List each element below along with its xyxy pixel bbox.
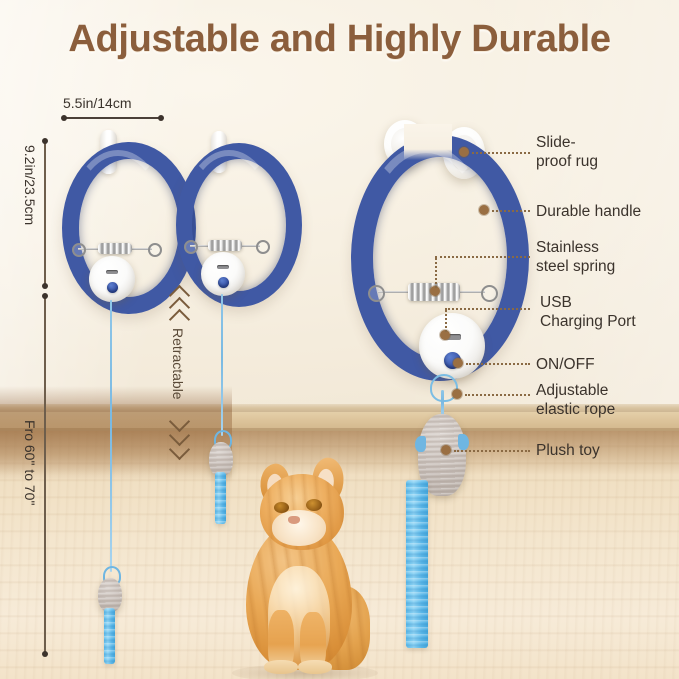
leader-slide-proof-rug [472,152,530,154]
callout-on-off-line1: ON/OFF [536,355,595,374]
leader-adjustable-elastic-rope [465,394,530,396]
main-spring-eye-left [368,285,385,302]
retractable-label: Retractable [170,328,186,400]
callout-plush-toy-line1: Plush toy [536,441,600,460]
plush-toy-ear-left [415,436,426,452]
power-button[interactable] [107,282,118,293]
range-dimension-endpoint-top [42,293,48,299]
leader-usb-charging-port-vertical [445,310,447,332]
callout-slide-proof-rug: Slide- proof rug [536,133,598,171]
height-dimension-endpoint-top [42,138,48,144]
device-left-plush-toy [98,578,122,612]
device-left-elastic-rope [110,300,112,572]
device-left-spring-coil [98,243,132,254]
callout-durable-handle-line1: Durable handle [536,202,641,221]
anchor-durable-handle [479,205,489,215]
callout-on-off: ON/OFF [536,355,595,374]
anchor-adjustable-elastic-rope [452,389,462,399]
leader-stainless-steel-spring-vertical [435,258,437,288]
device-left-spring-eye-right [148,243,162,257]
callout-plush-toy: Plush toy [536,441,600,460]
cat-nose [288,516,300,524]
width-dimension-endpoint-right [158,115,164,121]
device-left-spring-eye-left [72,243,86,257]
power-button[interactable] [218,277,229,288]
width-dimension-endpoint-left [61,115,67,121]
cat-paw-right [298,660,332,674]
main-spring-eye-right [481,285,498,302]
width-dimension-line [64,117,161,119]
width-dimension-label: 5.5in/14cm [63,95,131,111]
device-middle-spring-eye-right [256,240,270,254]
plush-toy-ear-right [458,434,469,450]
callout-usb-charging-port: USB Charging Port [540,293,636,331]
cat-eye-left [274,502,289,513]
callout-stainless-steel-spring: Stainless steel spring [536,238,615,276]
device-middle-control-unit[interactable] [201,252,245,296]
main-tassel [406,480,428,648]
leader-stainless-steel-spring-horizontal [435,256,530,258]
height-dimension-endpoint-bottom [42,283,48,289]
range-dimension-endpoint-bottom [42,651,48,657]
device-middle-spring-coil [208,240,242,251]
height-dimension-label: 9.2in/23.5cm [22,145,38,225]
device-left-control-unit[interactable] [89,256,135,302]
callout-usb-charging-port-line2: Charging Port [540,312,636,331]
page-title: Adjustable and Highly Durable [0,18,679,61]
callout-stainless-steel-spring-line1: Stainless [536,238,615,257]
callout-stainless-steel-spring-line2: steel spring [536,257,615,276]
anchor-plush-toy [441,445,451,455]
adjustable-elastic-rope [441,390,444,416]
range-dimension-line [44,296,46,656]
callout-adjustable-elastic-rope: Adjustable elastic rope [536,381,615,419]
cat-eye-right [306,499,322,511]
callout-durable-handle: Durable handle [536,202,641,221]
device-left-tassel [104,608,115,664]
callout-adjustable-elastic-rope-line1: Adjustable [536,381,615,400]
usb-charging-port-icon [217,265,229,269]
device-middle-spring-eye-left [184,240,198,254]
device-middle-elastic-rope [221,294,223,436]
leader-plush-toy [454,450,530,452]
cat-illustration [216,448,384,674]
cat-muzzle [272,510,326,546]
leader-durable-handle [492,210,530,212]
callout-slide-proof-rug-line1: Slide- [536,133,598,152]
callout-slide-proof-rug-line2: proof rug [536,152,598,171]
callout-adjustable-elastic-rope-line2: elastic rope [536,400,615,419]
usb-charging-port-icon [106,270,118,274]
leader-usb-charging-port-horizontal [445,308,530,310]
anchor-slide-proof-rug [459,147,469,157]
main-control-unit[interactable] [419,313,485,379]
handle-top-gap-cover [404,124,452,160]
leader-on-off [466,363,530,365]
cat-paw-left [264,660,298,674]
height-dimension-line [44,141,46,287]
callout-usb-charging-port-line1: USB [540,293,636,312]
range-dimension-label: Fro 60" to 70" [22,420,38,505]
anchor-on-off [453,358,463,368]
product-infographic: Adjustable and Highly Durable 5.5in/14cm… [0,0,679,679]
